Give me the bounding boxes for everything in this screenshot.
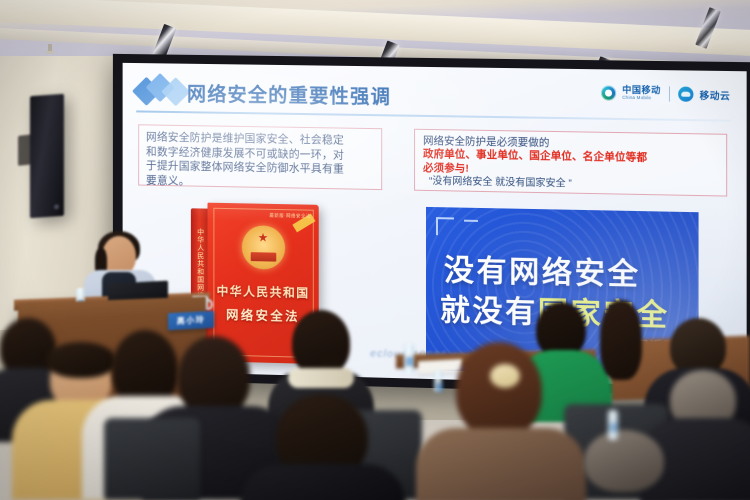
person-head	[584, 430, 664, 492]
panel-dash-mark	[464, 220, 478, 222]
hair-scrunchie	[490, 364, 520, 388]
mobile-cloud-logo-icon	[678, 87, 693, 102]
title-underline	[136, 110, 731, 121]
person-head	[456, 342, 542, 438]
brand-logo-row: 中国移动 China Mobile 移动云	[601, 85, 730, 102]
china-mobile-logo-icon	[601, 85, 616, 100]
audience-person	[560, 430, 690, 500]
presenter-nameplate: 高小玲	[168, 311, 214, 330]
slide-title: 网络安全的重要性强调	[187, 78, 391, 110]
conference-room-photo: 网络安全的重要性强调 中国移动 China Mobile 移动云 网络安全防护是…	[0, 0, 750, 500]
wall-speaker-icon	[30, 94, 64, 218]
sprinkler-head-icon	[48, 44, 52, 53]
person-hair	[600, 300, 642, 380]
china-mobile-wordmark: 中国移动 China Mobile	[622, 86, 661, 101]
left-text-box: 网络安全防护是维护国家安全、社会稳定 和数字经济健康发展不可或缺的一环，对 于提…	[138, 124, 382, 190]
brand-divider	[669, 86, 670, 101]
audience-person	[246, 394, 396, 500]
office-chair-icon	[104, 418, 200, 500]
bracket-corner-icon	[436, 217, 454, 235]
mobile-cloud-wordmark: 移动云	[700, 87, 731, 102]
collar-detail	[288, 368, 354, 388]
audience-person	[592, 300, 648, 396]
right-text-box: 网络安全防护是必须要做的 政府单位、事业单位、国企单位、名企单位等都 必须参与!…	[414, 129, 727, 197]
water-bottle-icon	[404, 344, 414, 374]
person-shoulders	[240, 464, 406, 500]
water-bottle-icon	[608, 410, 618, 440]
national-emblem-icon	[241, 225, 284, 270]
audience-person	[430, 342, 570, 500]
